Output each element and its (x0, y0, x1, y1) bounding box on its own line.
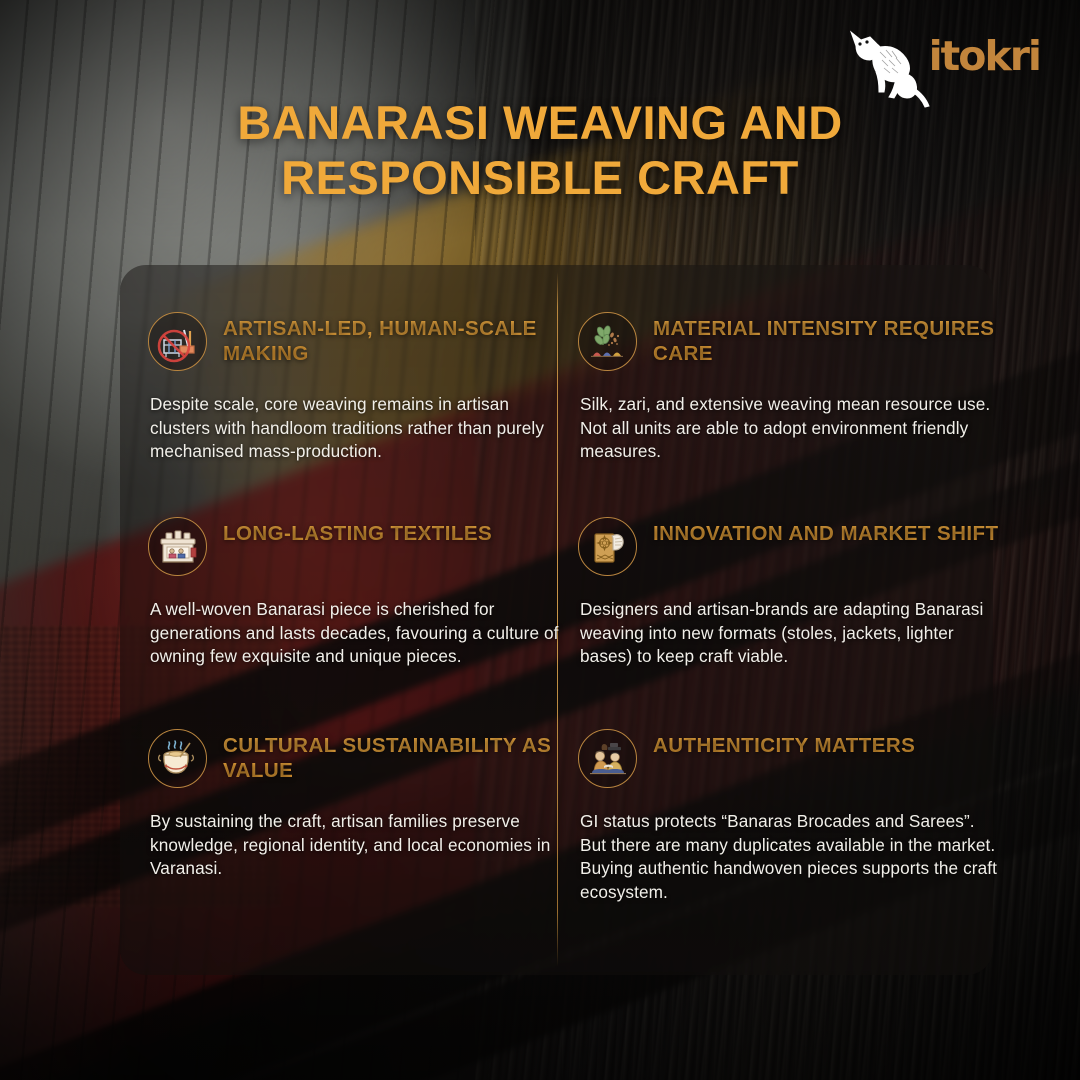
card-header: CULTURAL SUSTAINABILITY AS VALUE (148, 727, 568, 788)
insight-card-authenticity-matters: AUTHENTICITY MATTERS GI status protects … (578, 727, 1003, 905)
two-seated-artisans-icon (578, 729, 637, 788)
card-header: ARTISAN-LED, HUMAN-SCALE MAKING (148, 310, 568, 371)
insight-card-innovation-market-shift: INNOVATION AND MARKET SHIFT Designers an… (578, 515, 1003, 669)
card-title: INNOVATION AND MARKET SHIFT (653, 515, 998, 546)
card-body: GI status protects “Banaras Brocades and… (580, 810, 1003, 905)
header: iTokri BANARASI WEAVING AND RESPONSIBLE … (0, 0, 1080, 265)
card-body: Designers and artisan-brands are adaptin… (580, 598, 1003, 669)
page-title: BANARASI WEAVING AND RESPONSIBLE CRAFT (0, 96, 1080, 206)
card-header: AUTHENTICITY MATTERS (578, 727, 1003, 788)
card-title: ARTISAN-LED, HUMAN-SCALE MAKING (223, 310, 568, 366)
card-title: MATERIAL INTENSITY REQUIRES CARE (653, 310, 1003, 366)
page-title-line-1: BANARASI WEAVING AND (110, 96, 970, 151)
card-title: CULTURAL SUSTAINABILITY AS VALUE (223, 727, 568, 783)
page-title-line-2: RESPONSIBLE CRAFT (110, 151, 970, 206)
card-title: LONG-LASTING TEXTILES (223, 515, 492, 546)
card-header: LONG-LASTING TEXTILES (148, 515, 568, 576)
brand-wordmark: iTokri (929, 36, 1040, 77)
cat-illustration-icon (836, 18, 932, 108)
insight-card-grid: ARTISAN-LED, HUMAN-SCALE MAKING Despite … (120, 265, 993, 975)
insight-card-long-lasting-textiles: LONG-LASTING TEXTILES A well-woven Banar… (148, 515, 568, 669)
natural-dye-leaves-icon (578, 312, 637, 371)
card-body: A well-woven Banarasi piece is cherished… (150, 598, 568, 669)
brand-logo-group[interactable]: iTokri (929, 36, 1040, 77)
card-header: INNOVATION AND MARKET SHIFT (578, 515, 1003, 576)
insight-card-artisan-led: ARTISAN-LED, HUMAN-SCALE MAKING Despite … (148, 310, 568, 464)
card-body: Despite scale, core weaving remains in a… (150, 393, 568, 464)
no-factory-machine-icon (148, 312, 207, 371)
card-header: MATERIAL INTENSITY REQUIRES CARE (578, 310, 1003, 371)
card-body: Silk, zari, and extensive weaving mean r… (580, 393, 1003, 464)
hand-holding-fabric-icon (578, 517, 637, 576)
insight-card-material-intensity: MATERIAL INTENSITY REQUIRES CARE Silk, z… (578, 310, 1003, 464)
card-body: By sustaining the craft, artisan familie… (150, 810, 568, 881)
card-title: AUTHENTICITY MATTERS (653, 727, 915, 758)
craft-shop-stall-icon (148, 517, 207, 576)
insight-card-cultural-sustainability: CULTURAL SUSTAINABILITY AS VALUE By sust… (148, 727, 568, 881)
steaming-dye-pot-icon (148, 729, 207, 788)
